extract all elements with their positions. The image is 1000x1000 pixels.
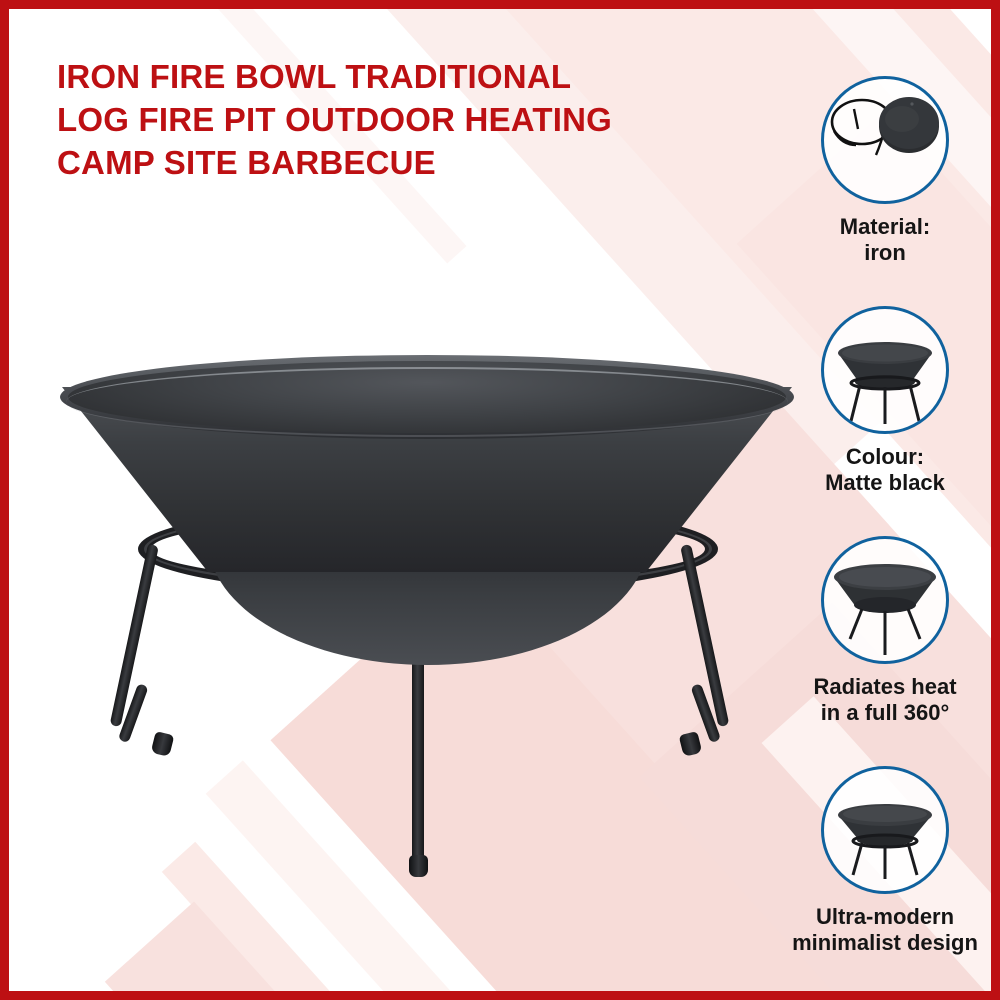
feature-label-radiates-heat: Radiates heat in a full 360° bbox=[779, 674, 991, 726]
feature-label-line-1: Ultra-modern bbox=[779, 904, 991, 930]
product-foot-center bbox=[409, 855, 428, 877]
page-title-line-1: IRON FIRE BOWL TRADITIONAL bbox=[57, 55, 717, 98]
feature-label-line-2: iron bbox=[779, 240, 991, 266]
product-foot-left bbox=[151, 731, 175, 757]
product-foot-right bbox=[679, 731, 703, 757]
feature-label-line-2: Matte black bbox=[779, 470, 991, 496]
fire-bowl-angle-icon bbox=[821, 766, 949, 894]
fire-bowl-photo-svg bbox=[824, 309, 946, 431]
feature-item-design: Ultra-modern minimalist design bbox=[779, 766, 991, 956]
feature-label-line-2: minimalist design bbox=[779, 930, 991, 956]
feature-item-material: Material: iron bbox=[779, 76, 991, 266]
product-promo-image: IRON FIRE BOWL TRADITIONAL LOG FIRE PIT … bbox=[0, 0, 1000, 1000]
page-title-line-3: CAMP SITE BARBECUE bbox=[57, 141, 717, 184]
feature-label-colour: Colour: Matte black bbox=[779, 444, 991, 496]
fire-bowl-front-svg bbox=[824, 539, 946, 661]
feature-label-line-1: Radiates heat bbox=[779, 674, 991, 700]
fire-bowl-angle-svg bbox=[824, 769, 946, 891]
feature-label-line-1: Material: bbox=[779, 214, 991, 240]
feature-label-material: Material: iron bbox=[779, 214, 991, 266]
feature-label-design: Ultra-modern minimalist design bbox=[779, 904, 991, 956]
product-bowl-rim-highlight bbox=[66, 367, 788, 437]
product-image bbox=[20, 355, 820, 895]
page-title-line-2: LOG FIRE PIT OUTDOOR HEATING bbox=[57, 98, 717, 141]
feature-label-line-1: Colour: bbox=[779, 444, 991, 470]
page-title: IRON FIRE BOWL TRADITIONAL LOG FIRE PIT … bbox=[57, 55, 717, 184]
fire-bowl-sketch-icon bbox=[821, 76, 949, 204]
feature-list: Material: iron Colour: Mat bbox=[779, 9, 991, 991]
fire-bowl-photo-icon bbox=[821, 306, 949, 434]
fire-bowl-front-icon bbox=[821, 536, 949, 664]
feature-item-radiates-heat: Radiates heat in a full 360° bbox=[779, 536, 991, 726]
fire-bowl-sketch-svg bbox=[824, 79, 946, 201]
feature-item-colour: Colour: Matte black bbox=[779, 306, 991, 496]
feature-label-line-2: in a full 360° bbox=[779, 700, 991, 726]
